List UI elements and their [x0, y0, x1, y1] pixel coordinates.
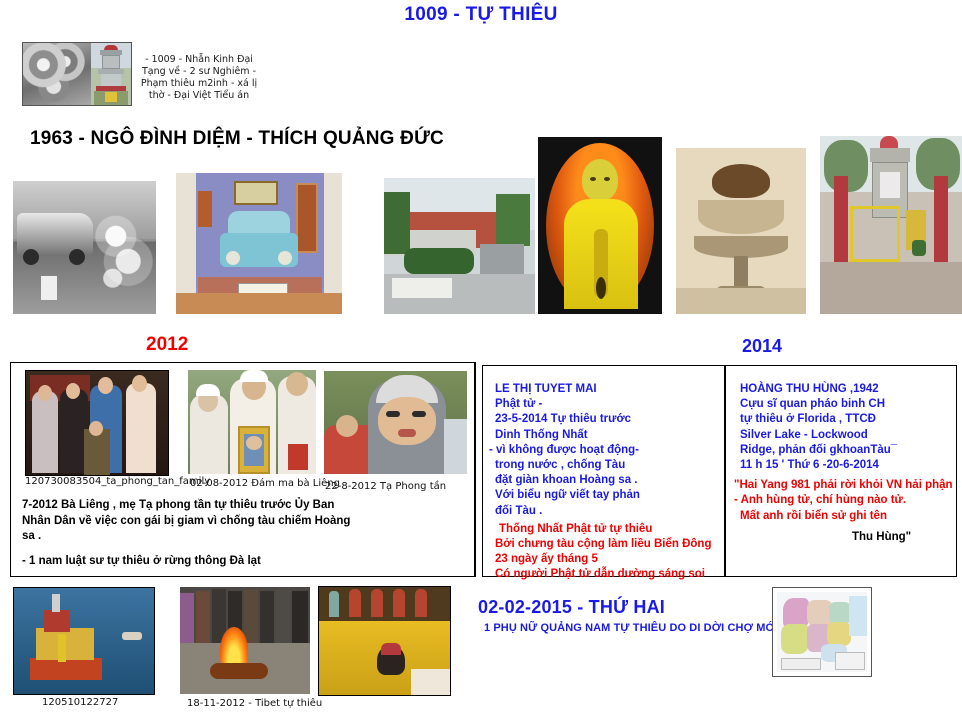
page-title-2014: 2014	[742, 336, 782, 357]
photo-heart-relic	[676, 148, 806, 314]
center-box-line-3: Dinh Thống Nhất	[495, 428, 724, 443]
left-description-block: 7-2012 Bà Liêng , mẹ Tạ phong tần tự thi…	[22, 498, 352, 569]
subtitle-2015: 1 PHỤ NỮ QUẢNG NAM TỰ THIÊU DO DI DỜI CH…	[484, 622, 778, 634]
divider-vertical-left-box	[474, 362, 475, 577]
photo-burning-monk	[13, 181, 156, 314]
center-box-line-4: - vì không được hoạt động-	[489, 443, 724, 458]
pagoda-icon	[91, 43, 131, 105]
caption-dam-ma-ba-lieng: 02-08-2012 Đám ma bà Liêng	[190, 478, 340, 489]
caption-ta-phong-tan: 22-8-2012 Tạ Phong tần	[325, 481, 446, 492]
center-box-line-6: đặt giàn khoan Hoàng sa .	[495, 473, 724, 488]
page-title-1009: 1009 - TỰ THIÊU	[0, 4, 962, 26]
center-box-red-line-1: Bởi chưng tàu cộng làm liều Biển Đông	[495, 537, 724, 552]
photo-monk-portrait	[538, 137, 662, 314]
right-box-red-line-1: - Anh hùng tử, chí hùng nào tử.	[734, 493, 956, 508]
photo-woman-in-cap	[324, 371, 467, 474]
center-box-line-0: LE THỊ TUYET MAI	[495, 382, 724, 397]
center-box-red-line-3: Có người Phật tử dẫn dường sáng soi	[495, 567, 724, 582]
right-box-red-line-2: Mất anh rồi biển sử ghi tên	[740, 509, 956, 524]
photo-funeral-mourners	[188, 370, 316, 474]
right-box-line-3: Silver Lake - Lockwood	[740, 428, 956, 443]
relic-bw-icon	[23, 43, 91, 105]
center-box-line-8: đối Tàu .	[495, 504, 724, 519]
photo-temple-gate	[820, 136, 962, 314]
left-description-paragraph-2: - 1 nam luật sư tự thiêu ở rừng thông Đà…	[22, 554, 352, 570]
right-box-red-line-0: "Hai Yang 981 phải rời khỏi VN hải phận	[734, 478, 956, 493]
photo-yellow-robe-body	[318, 586, 451, 696]
right-box-line-5: 11 h 15 ' Thứ 6 -20-6-2014	[740, 458, 956, 473]
photo-ta-phong-tan-family	[25, 370, 169, 476]
center-box-line-5: trong nước , chống Tàu	[495, 458, 724, 473]
right-box-line-4: Ridge, phản đối gkhoanTàu¯	[740, 443, 956, 458]
thumbnail-pair-1009-frame	[22, 42, 132, 106]
caption-oil-rig: 120510122727	[42, 697, 118, 708]
left-description-paragraph-1: 7-2012 Bà Liêng , mẹ Tạ phong tần tự thi…	[22, 498, 352, 545]
center-box-red-line-0: Thống Nhất Phật tử tự thiêu	[499, 522, 724, 537]
center-box-line-1: Phật tử -	[495, 397, 724, 412]
center-box-line-7: Với biểu ngữ viết tay phản	[495, 488, 724, 503]
photo-vietnam-map	[772, 587, 872, 677]
box-hoang-thu-hung: HOÀNG THU HÙNG ,1942 Cựu sĩ quan pháo bi…	[725, 365, 957, 577]
right-box-line-0: HOÀNG THU HÙNG ,1942	[740, 382, 956, 397]
page-title-1963: 1963 - NGÔ ĐÌNH DIỆM - THÍCH QUẢNG ĐỨC	[30, 128, 444, 150]
page-title-2015: 02-02-2015 - THỨ HAI	[478, 597, 665, 618]
page-title-2012: 2012	[146, 334, 188, 356]
center-box-line-2: 23-5-2014 Tự thiêu trước	[495, 412, 724, 427]
photo-tibet-fire	[180, 587, 310, 694]
center-box-red-line-2: 23 ngày ấy tháng 5	[495, 552, 724, 567]
right-box-line-1: Cựu sĩ quan pháo binh CH	[740, 397, 956, 412]
photo-temple-grounds	[384, 178, 535, 314]
caption-1009: - 1009 - Nhẫn Kinh Đại Tạng về - 2 sư Ng…	[133, 54, 265, 102]
box-le-thi-tuyet-mai: LE THỊ TUYET MAI Phật tử - 23-5-2014 Tự …	[482, 365, 725, 577]
caption-ta-phong-tan-family: 120730083504_ta_phong_tan_family	[25, 476, 210, 487]
right-box-signature: Thu Hùng"	[852, 530, 956, 546]
photo-oil-rig	[13, 587, 155, 695]
photo-austin-car	[176, 173, 342, 314]
caption-tibet: 18-11-2012 - Tibet tự thiêu	[187, 698, 322, 709]
right-box-line-2: tự thiêu ở Florida , TTCĐ	[740, 412, 956, 427]
